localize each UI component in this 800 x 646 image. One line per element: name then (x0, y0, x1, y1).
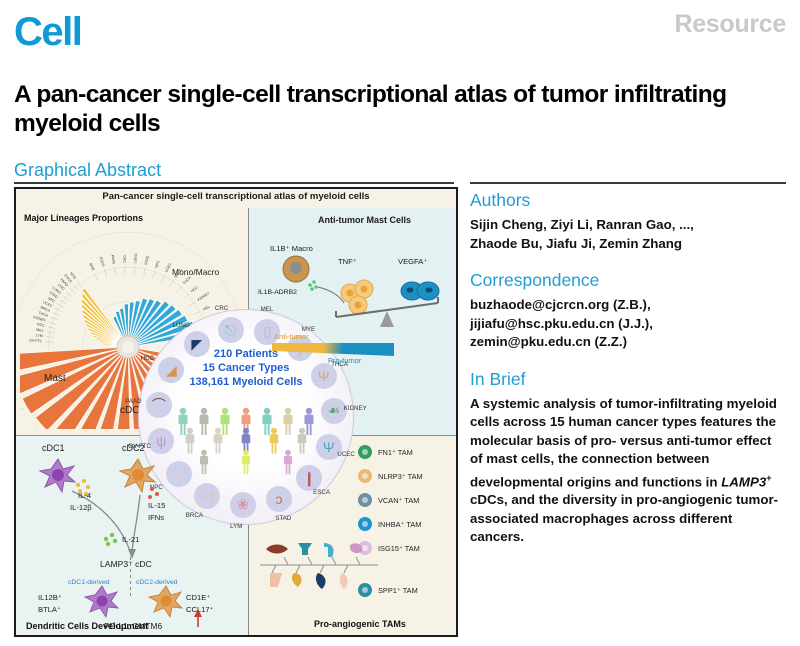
right-column: Authors Sijin Cheng, Ziyi Li, Ranran Gao… (470, 190, 786, 564)
btla-marker-label: BTLA⁺ (38, 605, 61, 614)
pro-tumor-label: Pro-tumor (328, 356, 361, 365)
graphical-abstract-figure: Pan-cancer single-cell transcriptional a… (14, 187, 458, 637)
cell-logo: Cell (14, 12, 81, 52)
tam-color-swatch (358, 445, 372, 459)
fan-category-label: PAAD (110, 254, 116, 264)
cd1e-marker-label: CD1E⁺ (186, 593, 210, 602)
tam-color-swatch (358, 493, 372, 507)
correspondence-heading: Correspondence (470, 270, 786, 291)
tam-legend-row: FN1⁺ TAM (358, 445, 413, 459)
fan-category-label: OV-FTC (29, 338, 43, 343)
tam-color-swatch (358, 469, 372, 483)
il15-label: IL-15 (148, 501, 165, 510)
fan-category-label: LYM (35, 333, 43, 338)
authors-heading: Authors (470, 190, 786, 211)
tissue-glyph: ☙ (328, 402, 341, 419)
fan-category-label: NPC (154, 260, 160, 269)
in-brief-text: A systemic analysis of tumor-infiltratin… (470, 395, 786, 547)
tissue-label-kidney: KIDNEY (344, 405, 367, 412)
patient-figure (200, 408, 209, 435)
in-brief-after: cDCs, and the diversity in pro-angiogeni… (470, 492, 778, 544)
fan-category-label: HCC (190, 285, 199, 293)
tissue-glyph: ◤ (191, 336, 202, 353)
authors-line-1: Sijin Cheng, Ziyi Li, Ranran Gao, ..., (470, 216, 786, 235)
tam-legend-row: VCAN⁺ TAM (358, 493, 419, 507)
il12b-label: IL-12β (70, 503, 92, 512)
anti-tumor-label: Anti-tumor (274, 332, 309, 341)
patient-figure (179, 408, 188, 435)
tam-panel-title: Pro-angiogenic TAMs (314, 619, 406, 629)
correspondence-section: Correspondence buzhaode@cjcrcn.org (Z.B.… (470, 270, 786, 352)
tam-organ-strip (258, 535, 378, 593)
lineage-label-cdc: cDC (120, 405, 139, 416)
fan-category-label: ESCA (99, 257, 106, 268)
tissue-glyph: ◢ (166, 362, 177, 379)
tissue-label-crc: CRC (215, 305, 228, 312)
correspondence-line-3[interactable]: zemin@pku.edu.cn (Z.Z.) (470, 333, 786, 352)
dendritic-panel-title: Dendritic Cells Development (26, 621, 148, 631)
in-brief-heading: In Brief (470, 369, 786, 390)
fan-category-label: STAD (144, 255, 150, 265)
ifns-label: IFNs (148, 513, 164, 522)
right-column-rule (470, 182, 786, 184)
correspondence-line-2[interactable]: jijiafu@hsc.pku.edu.cn (J.J.), (470, 315, 786, 334)
mast-cell-panel: Anti-tumor Mast Cells IL1B⁺ Macro IL1B-A… (252, 211, 456, 371)
tissue-icon-paad: ⌒ (146, 392, 172, 418)
organ-strip-svg (258, 535, 382, 593)
patient-figure (221, 408, 230, 435)
patient-figure (305, 408, 314, 435)
figure-banner-title: Pan-cancer single-cell transcriptional a… (16, 191, 456, 202)
tam-panel: FN1⁺ TAMNLRP3⁺ TAMVCAN⁺ TAMINHBA⁺ TAMISG… (252, 439, 456, 633)
tam-legend-label: SPP1⁺ TAM (378, 586, 418, 595)
il12b-marker-label: IL12B⁺ (38, 593, 62, 602)
authors-line-2: Zhaode Bu, Jiafu Ji, Zemin Zhang (470, 235, 786, 254)
fan-category-label: MEL (36, 328, 44, 333)
tissue-label-lung: LUNG (172, 322, 189, 329)
tam-color-swatch (358, 517, 372, 531)
cdc2-derived-label: cDC2-derived (136, 579, 178, 586)
authors-section: Authors Sijin Cheng, Ziyi Li, Ranran Gao… (470, 190, 786, 253)
left-column-rule (14, 182, 454, 184)
tam-legend-row: INHBA⁺ TAM (358, 517, 421, 531)
tissue-icon-crc: ⎋ (218, 317, 244, 343)
il4-label: IL-4 (78, 491, 91, 500)
il21-label: IL-21 (122, 535, 139, 544)
page-title: A pan-cancer single-cell transcriptional… (14, 80, 774, 138)
patient-figure (284, 408, 293, 435)
tissue-glyph: ⎋ (225, 322, 236, 339)
tam-legend-label: VCAN⁺ TAM (378, 496, 419, 505)
ccl17-marker-label: CCL17⁺ (186, 605, 214, 614)
dendritic-cells-panel: cDC1 cDC2 (20, 439, 246, 633)
correspondence-line-1[interactable]: buzhaode@cjcrcn.org (Z.B.), (470, 296, 786, 315)
tam-legend-label: INHBA⁺ TAM (378, 520, 421, 529)
fan-category-label: MYE (88, 263, 95, 272)
fan-category-label: LUNG (133, 253, 138, 263)
tam-legend-label: NLRP3⁺ TAM (378, 472, 423, 481)
journal-masthead: Cell (14, 12, 81, 52)
derived-divider (130, 557, 131, 597)
graphical-abstract-heading: Graphical Abstract (14, 160, 161, 181)
tissue-icon-lung: ◤ (184, 331, 210, 357)
tissue-label-paad: PAAD (125, 398, 141, 405)
tam-legend-label: ISG15⁺ TAM (378, 544, 420, 553)
tissue-glyph: ⌒ (152, 395, 166, 415)
article-type-label: Resource (674, 10, 786, 39)
tam-legend-row: NLRP3⁺ TAM (358, 469, 423, 483)
lineage-label-mast: Mast (44, 373, 66, 384)
lineage-label-mono-macro: Mono/Macro (172, 267, 219, 277)
gene-superscript: + (766, 473, 771, 483)
fan-category-label: CRC (122, 255, 126, 263)
cdc1-derived-label: cDC1-derived (68, 579, 110, 586)
fan-category-label: KIDNEY (197, 291, 211, 302)
tissue-label-hcc: HCC (141, 355, 154, 362)
tam-legend-label: FN1⁺ TAM (378, 448, 413, 457)
lamp3-cdc-label: LAMP3⁺ cDC (100, 559, 152, 570)
gene-name-lamp3: LAMP3 (721, 474, 766, 489)
paper-cover-page: Cell Resource A pan-cancer single-cell t… (0, 0, 800, 646)
patient-figure (263, 408, 272, 435)
in-brief-section: In Brief A systemic analysis of tumor-in… (470, 369, 786, 547)
